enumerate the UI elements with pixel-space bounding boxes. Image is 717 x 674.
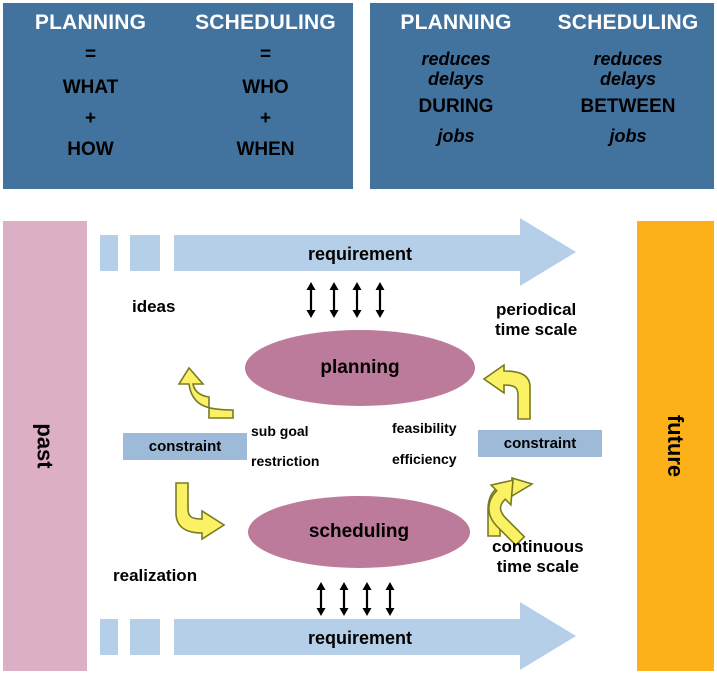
- periodical-time-scale-line-1: periodical: [495, 300, 577, 320]
- periodical-time-scale-label: periodical time scale: [495, 300, 577, 339]
- past-column: past: [3, 221, 87, 671]
- definition-planning-how: HOW: [67, 140, 113, 161]
- realization-label: realization: [113, 566, 197, 586]
- feasibility-label: feasibility: [392, 420, 457, 436]
- benefit-planning-jobs: jobs: [437, 126, 474, 146]
- benefit-scheduling-between: BETWEEN: [581, 97, 676, 118]
- definition-scheduling-eq: =: [260, 45, 271, 66]
- definition-scheduling-when: WHEN: [236, 140, 294, 161]
- top-arrow-dash-2: [130, 235, 160, 271]
- future-label: future: [662, 415, 688, 477]
- yellow-arrow-planning-to-constraint-left: [179, 364, 233, 422]
- yellow-arrow-scheduling-to-constraint-right: [486, 476, 540, 538]
- ideas-label: ideas: [132, 297, 175, 317]
- bottom-requirement-arrowhead: [520, 602, 576, 670]
- continuous-time-scale-label: continuous time scale: [492, 537, 584, 576]
- definition-scheduling-who: WHO: [242, 78, 288, 99]
- periodical-time-scale-line-2: time scale: [495, 320, 577, 340]
- top-arrow-dash-1: [100, 235, 118, 271]
- top-requirement-label: requirement: [308, 244, 412, 265]
- benefit-scheduling-jobs: jobs: [609, 126, 646, 146]
- restriction-label: restriction: [251, 453, 319, 469]
- bottom-arrow-dash-1: [100, 619, 118, 655]
- definition-planning-plus: +: [85, 109, 96, 130]
- benefit-panel: PLANNING reduces delays DURING jobs SCHE…: [370, 3, 714, 189]
- definition-planning-eq: =: [85, 45, 96, 66]
- yellow-arrow-constraint-left-to-scheduling: [174, 483, 232, 539]
- definition-column-planning: PLANNING = WHAT + HOW: [3, 3, 178, 189]
- benefit-scheduling-delays: delays: [600, 69, 656, 89]
- definition-scheduling-plus: +: [260, 109, 271, 130]
- benefit-scheduling-title: SCHEDULING: [558, 11, 699, 35]
- definition-panel: PLANNING = WHAT + HOW SCHEDULING = WHO +…: [3, 3, 353, 189]
- definition-scheduling-title: SCHEDULING: [195, 11, 336, 35]
- bottom-arrow-dash-2: [130, 619, 160, 655]
- planning-scheduling-diagram: past future requirement requirement: [0, 200, 717, 674]
- continuous-time-scale-line-2: time scale: [492, 557, 584, 577]
- constraint-box-right[interactable]: constraint: [478, 430, 602, 457]
- benefit-planning-delays: delays: [428, 69, 484, 89]
- benefit-scheduling-reduces: reduces: [593, 49, 662, 69]
- bottom-requirement-label: requirement: [308, 628, 412, 649]
- scheduling-node[interactable]: scheduling: [248, 496, 470, 568]
- benefit-planning-reduces: reduces: [421, 49, 490, 69]
- past-label: past: [32, 423, 58, 468]
- benefit-column-planning: PLANNING reduces delays DURING jobs: [370, 3, 542, 189]
- benefit-column-scheduling: SCHEDULING reduces delays BETWEEN jobs: [542, 3, 714, 189]
- definition-column-scheduling: SCHEDULING = WHO + WHEN: [178, 3, 353, 189]
- benefit-planning-title: PLANNING: [400, 11, 511, 35]
- definition-planning-title: PLANNING: [35, 11, 146, 35]
- yellow-arrow-constraint-right-to-planning: [474, 365, 532, 421]
- planning-node[interactable]: planning: [245, 330, 475, 406]
- continuous-time-scale-line-1: continuous: [492, 537, 584, 557]
- benefit-planning-during: DURING: [419, 97, 494, 118]
- planning-link-arrows: [305, 282, 391, 318]
- constraint-box-left[interactable]: constraint: [123, 433, 247, 460]
- definition-planning-what: WHAT: [63, 78, 119, 99]
- future-column: future: [637, 221, 714, 671]
- top-requirement-arrowhead: [520, 218, 576, 286]
- scheduling-link-arrows: [315, 582, 401, 616]
- efficiency-label: efficiency: [392, 451, 457, 467]
- sub-goal-label: sub goal: [251, 423, 309, 439]
